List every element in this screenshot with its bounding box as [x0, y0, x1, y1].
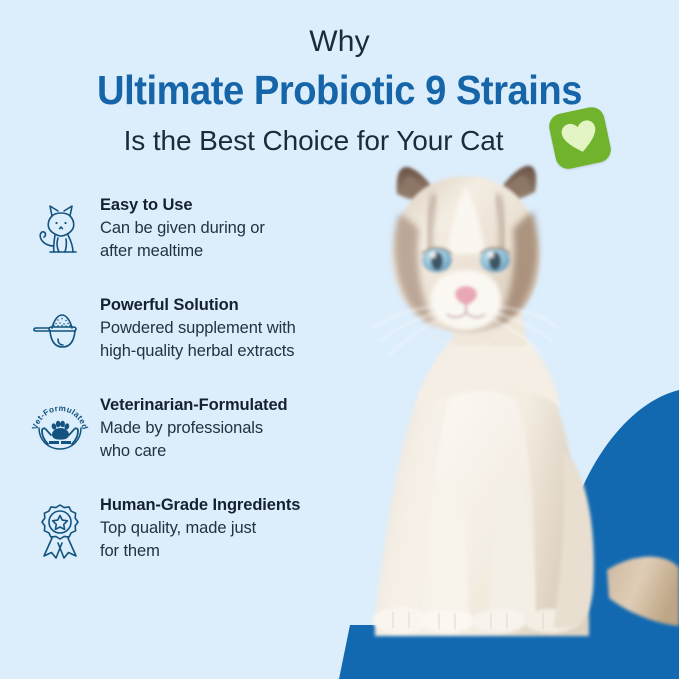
feature-text: Powerful Solution Powdered supplement wi…	[100, 294, 345, 363]
feature-description: Can be given during or after mealtime	[100, 217, 345, 263]
feature-title: Veterinarian-Formulated	[100, 394, 345, 416]
product-infographic: Why Ultimate Probiotic 9 Strains Is the …	[0, 0, 679, 679]
feature-title: Easy to Use	[100, 194, 345, 216]
feature-description-line: Made by professionals	[100, 417, 345, 440]
feature-description: Made by professionals who care	[100, 417, 345, 463]
ragdoll-cat-image	[339, 150, 679, 679]
header: Why Ultimate Probiotic 9 Strains Is the …	[0, 0, 679, 180]
svg-text:Vet-Formulated: Vet-Formulated	[30, 404, 89, 431]
heart-badge-icon	[547, 105, 613, 171]
feature-item: Vet-Formulated	[0, 394, 345, 494]
feature-text: Human-Grade Ingredients Top quality, mad…	[100, 494, 345, 563]
feature-description-line: Can be given during or	[100, 217, 345, 240]
feature-text: Easy to Use Can be given during or after…	[100, 194, 345, 263]
feature-description-line: high-quality herbal extracts	[100, 340, 345, 363]
header-eyebrow: Why	[0, 24, 679, 60]
feature-item: Easy to Use Can be given during or after…	[0, 194, 345, 294]
feature-item: Powerful Solution Powdered supplement wi…	[0, 294, 345, 394]
feature-description-line: Top quality, made just	[100, 517, 345, 540]
vet-formulated-label: Vet-Formulated	[30, 404, 89, 431]
feature-list: Easy to Use Can be given during or after…	[0, 194, 345, 594]
sitting-cat-icon	[28, 198, 92, 262]
page-title: Ultimate Probiotic 9 Strains	[24, 66, 655, 114]
feature-description: Top quality, made just for them	[100, 517, 345, 563]
feature-description-line: Powdered supplement with	[100, 317, 345, 340]
feature-description-line: who care	[100, 440, 345, 463]
feature-item: Human-Grade Ingredients Top quality, mad…	[0, 494, 345, 594]
award-rosette-star-icon	[28, 498, 92, 562]
measuring-scoop-powder-icon	[28, 298, 92, 362]
feature-description-line: for them	[100, 540, 345, 563]
feature-text: Veterinarian-Formulated Made by professi…	[100, 394, 345, 463]
vet-formulated-badge-icon: Vet-Formulated	[28, 398, 92, 462]
feature-description: Powdered supplement with high-quality he…	[100, 317, 345, 363]
feature-description-line: after mealtime	[100, 240, 345, 263]
feature-title: Human-Grade Ingredients	[100, 494, 345, 516]
feature-title: Powerful Solution	[100, 294, 345, 316]
cat-photo-area	[339, 150, 679, 679]
